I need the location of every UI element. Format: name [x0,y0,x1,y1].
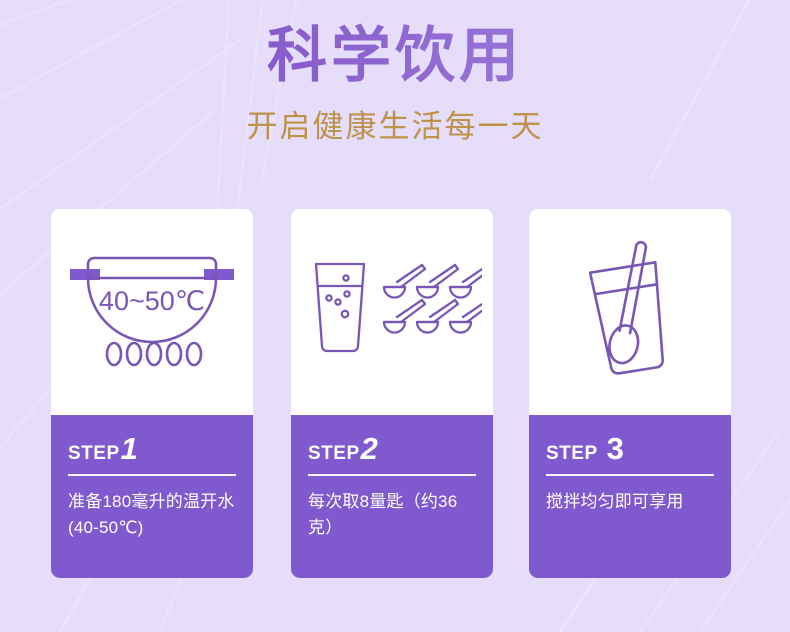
page-subtitle: 开启健康生活每一天 [0,101,790,146]
step-2-illustration [291,209,493,415]
step-card-2[interactable]: STEP 2 每次取8量匙（约36克） [291,209,493,578]
poster-header: 科学饮用 开启健康生活每一天 [0,22,790,146]
step-3-number: 3 [607,433,624,464]
page-title: 科学饮用 [0,22,790,89]
step-1-word: STEP [68,444,120,463]
step-1-description: 准备180毫升的温开水(40-50℃) [68,489,236,542]
step-3-word: STEP [546,444,598,463]
bowl-temperature-label: 40~50℃ [99,286,205,316]
step-card-1[interactable]: 40~50℃ STEP 1 准备180毫升的温开水(40-50℃) [51,209,253,578]
step-2-heading: STEP 2 [308,433,476,464]
step-3-illustration [529,209,731,415]
step-2-word: STEP [308,444,360,463]
step-1-body: STEP 1 准备180毫升的温开水(40-50℃) [51,415,253,578]
glass-with-spoon-icon [540,225,720,400]
step-3-divider [546,474,714,476]
step-2-description: 每次取8量匙（约36克） [308,489,476,542]
poster-canvas: 科学饮用 开启健康生活每一天 [0,0,790,632]
step-2-divider [308,474,476,476]
step-1-illustration: 40~50℃ [51,209,253,415]
step-card-3[interactable]: STEP 3 搅拌均匀即可享用 [529,209,731,578]
step-3-heading: STEP 3 [546,433,714,464]
glass-and-scoops-icon [302,242,482,382]
step-2-number: 2 [361,433,378,464]
step-3-body: STEP 3 搅拌均匀即可享用 [529,415,731,578]
step-2-body: STEP 2 每次取8量匙（约36克） [291,415,493,578]
step-1-divider [68,474,236,476]
warm-water-bowl-icon: 40~50℃ [62,242,242,382]
step-1-number: 1 [121,433,138,464]
step-1-heading: STEP 1 [68,433,236,464]
step-3-description: 搅拌均匀即可享用 [546,489,714,515]
